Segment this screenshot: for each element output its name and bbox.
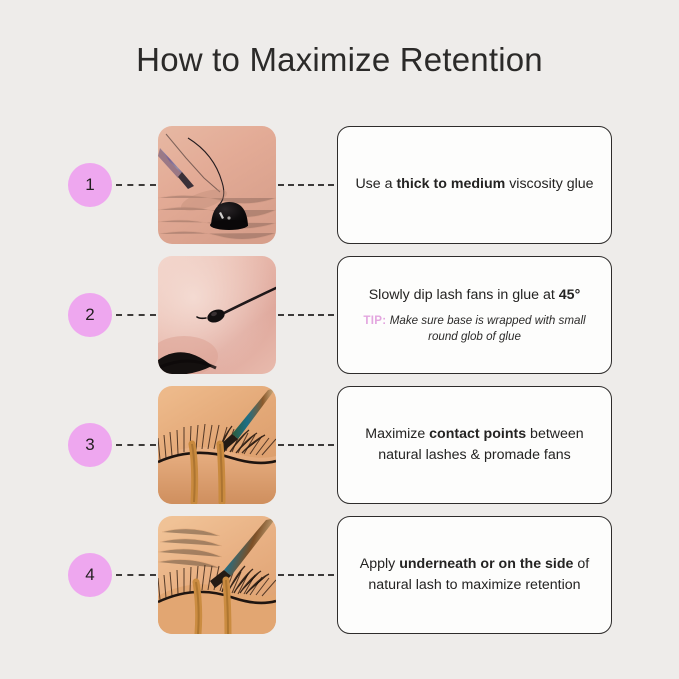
tip-label: TIP: [363, 314, 386, 327]
page-title: How to Maximize Retention [0, 40, 679, 80]
step-row-2: 2 [0, 256, 679, 374]
step-number-label-2: 2 [85, 305, 94, 325]
step-number-label-1: 1 [85, 175, 94, 195]
step-number-badge-2: 2 [68, 293, 112, 337]
step-card-1: Use a thick to medium viscosity glue [337, 126, 612, 244]
step-number-badge-3: 3 [68, 423, 112, 467]
step-text-4: Apply underneath or on the side of natur… [354, 554, 595, 597]
step-number-badge-4: 4 [68, 553, 112, 597]
step-text-1: Use a thick to medium viscosity glue [355, 174, 593, 196]
step-card-3: Maximize contact points between natural … [337, 386, 612, 504]
connector-dash-right-4 [278, 574, 334, 576]
step-number-label-3: 3 [85, 435, 94, 455]
step-photo-4 [158, 516, 276, 634]
step-card-4: Apply underneath or on the side of natur… [337, 516, 612, 634]
connector-dash-right-1 [278, 184, 334, 186]
tip-text: Make sure base is wrapped with small rou… [390, 314, 586, 343]
step-card-2: Slowly dip lash fans in glue at 45° TIP:… [337, 256, 612, 374]
connector-dash-left-2 [116, 314, 156, 316]
step-text-3: Maximize contact points between natural … [354, 424, 595, 467]
step-number-badge-1: 1 [68, 163, 112, 207]
step-row-1: 1 [0, 126, 679, 244]
connector-dash-right-2 [278, 314, 334, 316]
step-row-4: 4 [0, 516, 679, 634]
step-photo-1 [158, 126, 276, 244]
step-tip-2: TIP: Make sure base is wrapped with smal… [354, 313, 595, 345]
connector-dash-right-3 [278, 444, 334, 446]
connector-dash-left-4 [116, 574, 156, 576]
step-photo-3 [158, 386, 276, 504]
step-number-label-4: 4 [85, 565, 94, 585]
infographic-page: How to Maximize Retention 1 [0, 0, 679, 679]
step-photo-2 [158, 256, 276, 374]
step-row-3: 3 [0, 386, 679, 504]
connector-dash-left-1 [116, 184, 156, 186]
step-text-2: Slowly dip lash fans in glue at 45° [369, 285, 581, 307]
connector-dash-left-3 [116, 444, 156, 446]
